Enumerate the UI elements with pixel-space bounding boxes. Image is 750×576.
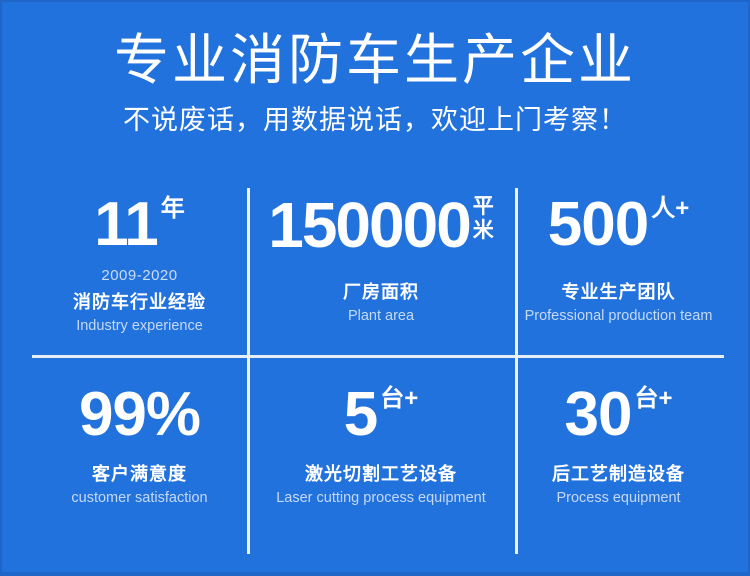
stat-cell-laser-cutting-equipment: 5 台+ 激光切割工艺设备 Laser cutting process equi… bbox=[247, 356, 515, 556]
stat-cell-customer-satisfaction: 99% 客户满意度 customer satisfaction bbox=[32, 356, 247, 556]
banner-title: 专业消防车生产企业 bbox=[2, 28, 748, 92]
promo-banner: 专业消防车生产企业 不说废话，用数据说话，欢迎上门考察！ 11 年 2009-2… bbox=[0, 0, 750, 576]
stat-unit: 台+ bbox=[380, 386, 418, 412]
stat-number: 5 bbox=[344, 382, 377, 448]
stat-label-en: Plant area bbox=[348, 306, 414, 326]
stat-sublabel: 2009-2020 bbox=[101, 266, 177, 286]
stat-cell-industry-experience: 11 年 2009-2020 消防车行业经验 Industry experien… bbox=[32, 184, 247, 356]
stat-label-en: Laser cutting process equipment bbox=[276, 488, 486, 508]
banner-subtitle: 不说废话，用数据说话，欢迎上门考察！ bbox=[2, 100, 748, 140]
stat-number: 500 bbox=[548, 192, 648, 258]
stat-cell-plant-area: 150000 平米 厂房面积 Plant area bbox=[247, 184, 515, 356]
stat-number: 30 bbox=[565, 382, 632, 448]
stat-unit-char-1: 平 bbox=[473, 195, 494, 219]
stat-number-row: 150000 平米 bbox=[268, 192, 494, 258]
stat-label-en: Process equipment bbox=[556, 488, 680, 508]
stat-label-cn: 厂房面积 bbox=[343, 280, 419, 304]
stat-unit-char-2: 米 bbox=[473, 219, 494, 243]
stats-grid: 11 年 2009-2020 消防车行业经验 Industry experien… bbox=[32, 184, 722, 556]
stat-label-cn: 消防车行业经验 bbox=[73, 290, 206, 314]
stat-label-cn: 后工艺制造设备 bbox=[552, 462, 685, 486]
stat-label-cn: 激光切割工艺设备 bbox=[305, 462, 457, 486]
stat-number: 99% bbox=[79, 382, 200, 448]
stat-number-row: 500 人+ bbox=[548, 192, 689, 258]
stat-unit: 台+ bbox=[634, 386, 672, 412]
stat-number-row: 11 年 bbox=[94, 192, 185, 258]
banner-header: 专业消防车生产企业 不说废话，用数据说话，欢迎上门考察！ bbox=[2, 28, 748, 140]
stat-label-en: customer satisfaction bbox=[71, 488, 207, 508]
stat-label-cn: 客户满意度 bbox=[92, 462, 187, 486]
stat-label-en: Industry experience bbox=[76, 316, 203, 336]
stat-label-cn: 专业生产团队 bbox=[562, 280, 676, 304]
stat-cell-process-equipment: 30 台+ 后工艺制造设备 Process equipment bbox=[515, 356, 722, 556]
stat-number-row: 30 台+ bbox=[565, 382, 673, 448]
stat-label-en: Professional production team bbox=[525, 306, 713, 326]
stat-number: 11 bbox=[94, 192, 158, 258]
stat-cell-production-team: 500 人+ 专业生产团队 Professional production te… bbox=[515, 184, 722, 356]
stat-unit: 人+ bbox=[651, 196, 689, 222]
stat-number-row: 5 台+ bbox=[344, 382, 419, 448]
stat-unit: 平米 bbox=[473, 195, 494, 243]
stat-number: 150000 bbox=[268, 192, 470, 258]
stat-number-row: 99% bbox=[79, 382, 200, 448]
stat-unit: 年 bbox=[161, 196, 185, 222]
